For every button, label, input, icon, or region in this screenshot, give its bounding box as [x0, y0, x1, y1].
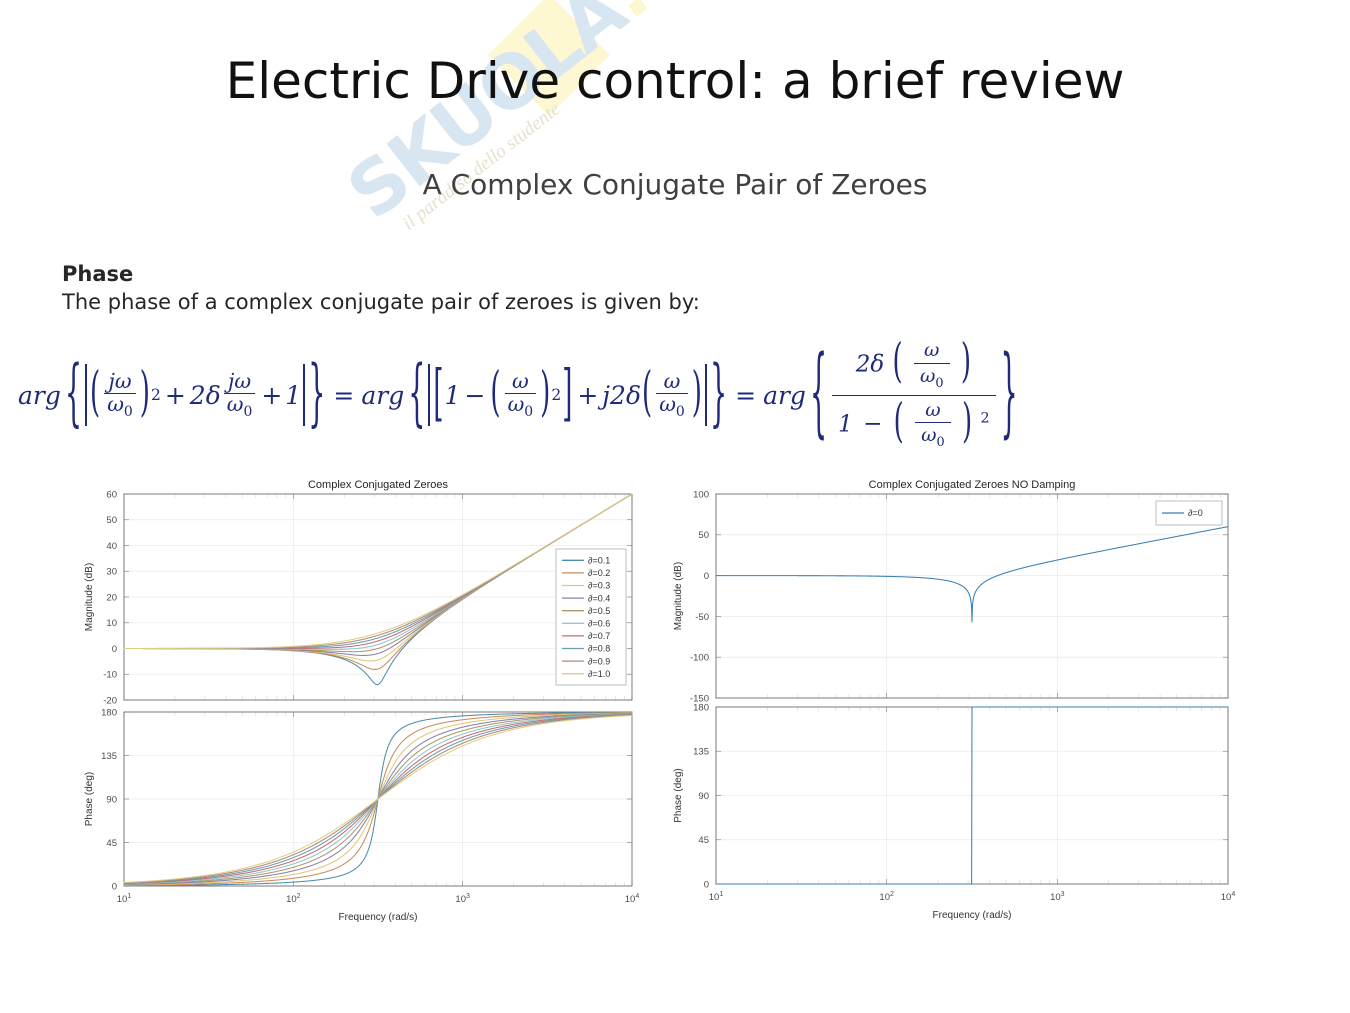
y-tick-label: 135 — [693, 747, 709, 758]
legend-label: ∂=0.7 — [588, 631, 610, 641]
page-title: Electric Drive control: a brief review — [0, 52, 1350, 110]
y-tick-label: 50 — [106, 515, 117, 526]
legend-label: ∂=0.8 — [588, 644, 610, 654]
y-tick-label: 45 — [698, 835, 709, 846]
brace-open-1: { — [65, 382, 82, 407]
coef-two-1: 2 — [190, 381, 206, 410]
arg-operator-3: arg — [763, 381, 806, 410]
j2-coef: j2 — [602, 381, 626, 410]
y-tick-label: 45 — [106, 838, 117, 849]
y-tick-label: -100 — [690, 653, 709, 664]
x-axis-label: Frequency (rad/s) — [933, 910, 1012, 921]
fraction-denominator: ω0 — [224, 393, 256, 420]
chart-title: Complex Conjugated Zeroes NO Damping — [869, 479, 1076, 491]
exponent-1: 2 — [151, 386, 161, 404]
brace-close-2: } — [710, 382, 727, 407]
brace-open-2: { — [408, 382, 425, 407]
fraction-w-w0-b: ω ω0 — [656, 371, 688, 419]
y-tick-label: 0 — [704, 571, 709, 582]
panel-magnitude: -150-100-50050100 — [690, 489, 1228, 704]
phase-fraction: 2δ ( ω ω0 ) 1 − ( ω ω0 ) 2 — [832, 336, 995, 454]
abs-bar-close-1 — [303, 364, 305, 426]
y-tick-label: 90 — [698, 791, 709, 802]
y-tick-label: -10 — [103, 670, 117, 681]
fraction-numerator: 2δ ( ω ω0 ) — [850, 336, 978, 395]
fraction-denominator: ω0 — [656, 393, 688, 420]
fraction-denominator: 1 − ( ω ω0 ) 2 — [832, 395, 995, 455]
fraction-denominator: ω0 — [915, 422, 951, 452]
delta-1: δ — [206, 381, 221, 410]
x-tick-label: 104 — [625, 893, 640, 905]
y-tick-label: 180 — [693, 702, 709, 713]
legend-label: ∂=0 — [1188, 508, 1203, 518]
paren-open-2: ( — [490, 383, 500, 407]
equation-term-2: arg { [ 1 − ( ω ω0 ) 2 ] + j2 δ ( ω ω0 )… — [361, 364, 728, 426]
x-axis-label: Frequency (rad/s) — [339, 912, 418, 923]
x-tick-label: 103 — [1050, 891, 1065, 903]
equation-term-1: arg { ( jω ω0 ) 2 + 2 δ jω ω0 + 1 } — [18, 364, 326, 426]
brace-close-1: } — [308, 382, 325, 407]
legend-label: ∂=0.1 — [588, 556, 610, 566]
paren-close-4: ) — [961, 354, 971, 375]
y-tick-label: -50 — [695, 612, 709, 623]
paren-open-1: ( — [90, 383, 100, 407]
equals-sign-2: = — [735, 381, 756, 410]
x-tick-label: 102 — [879, 891, 894, 903]
legend-label: ∂=0.6 — [588, 619, 610, 629]
fraction-numerator: ω — [919, 398, 946, 423]
chart-title: Complex Conjugated Zeroes — [308, 479, 449, 491]
fraction-w-w0-c: ω ω0 — [914, 338, 950, 393]
legend-label: ∂=0.9 — [588, 656, 610, 666]
y-tick-label: 30 — [106, 567, 117, 578]
chart-right-svg: Complex Conjugated Zeroes NO Damping-150… — [666, 474, 1240, 932]
arg-operator-2: arg — [361, 381, 404, 410]
y-tick-label: 90 — [106, 794, 117, 805]
arg-operator-1: arg — [18, 381, 61, 410]
one-2: 1 — [445, 381, 461, 410]
paren-close-1: ) — [140, 383, 150, 407]
x-tick-label: 102 — [286, 893, 301, 905]
panel-phase: 04590135180 — [101, 707, 632, 892]
y-axis-label: Magnitude (dB) — [84, 563, 95, 631]
plus-sign-3: + — [577, 381, 598, 410]
brace-close-3: } — [1001, 378, 1018, 412]
y-tick-label: 50 — [698, 530, 709, 541]
plus-sign-1: + — [165, 381, 186, 410]
panel-phase: 04590135180 — [693, 702, 1228, 890]
fraction-jw-w0-b: jω ω0 — [224, 371, 256, 419]
fraction-denominator: ω0 — [914, 363, 950, 393]
equation-term-3: arg { 2δ ( ω ω0 ) 1 − ( ω ω0 ) — [763, 336, 1019, 454]
y-tick-label: -20 — [103, 695, 117, 706]
fraction-denominator: ω0 — [505, 393, 537, 420]
y-tick-label: 0 — [704, 879, 709, 890]
exponent-3: 2 — [980, 410, 989, 426]
y-axis-label: Magnitude (dB) — [673, 562, 684, 630]
fraction-numerator: ω — [918, 338, 945, 363]
phase-equation: arg { ( jω ω0 ) 2 + 2 δ jω ω0 + 1 } = ar… — [18, 336, 1019, 454]
x-tick-label: 101 — [709, 891, 724, 903]
body-text-block: Phase The phase of a complex conjugate p… — [62, 262, 700, 314]
one-1: 1 — [285, 381, 301, 410]
fraction-w-w0-d: ω ω0 — [915, 398, 951, 453]
y-tick-label: 180 — [101, 707, 117, 718]
y-tick-label: 0 — [112, 881, 117, 892]
y-axis-label: Phase (deg) — [84, 772, 95, 826]
y-tick-label: 20 — [106, 592, 117, 603]
exponent-2: 2 — [551, 386, 561, 404]
chart-legend: ∂=0 — [1156, 501, 1222, 525]
fraction-numerator: ω — [509, 371, 532, 393]
x-tick-label: 103 — [455, 893, 470, 905]
bracket-open-2: [ — [433, 383, 443, 407]
x-tick-label: 104 — [1221, 891, 1236, 903]
abs-bar-close-2 — [705, 364, 707, 426]
chart-legend: ∂=0.1∂=0.2∂=0.3∂=0.4∂=0.5∂=0.6∂=0.7∂=0.8… — [556, 549, 626, 685]
panel-magnitude: -20-100102030405060 — [103, 489, 632, 706]
delta-2: δ — [626, 381, 641, 410]
legend-label: ∂=0.4 — [588, 593, 610, 603]
fraction-numerator: jω — [105, 371, 134, 393]
paren-close-3: ) — [692, 383, 702, 407]
chart-complex-conjugated-zeroes-no-damping: Complex Conjugated Zeroes NO Damping-150… — [666, 474, 1240, 932]
plus-sign-2: + — [261, 381, 282, 410]
legend-label: ∂=0.5 — [588, 606, 610, 616]
chart-complex-conjugated-zeroes: Complex Conjugated Zeroes-20-10010203040… — [78, 474, 644, 932]
fraction-denominator: ω0 — [104, 393, 136, 420]
abs-bar-open-2 — [428, 364, 430, 426]
chart-left-svg: Complex Conjugated Zeroes-20-10010203040… — [78, 474, 644, 932]
paren-open-4: ( — [893, 354, 903, 375]
fraction-jw-w0-a: jω ω0 — [104, 371, 136, 419]
y-tick-label: 0 — [112, 644, 117, 655]
bracket-close-2: ] — [562, 383, 572, 407]
y-tick-label: 100 — [693, 489, 709, 500]
section-heading: Phase — [62, 262, 700, 286]
x-tick-label: 101 — [117, 893, 132, 905]
brace-open-3: { — [810, 378, 827, 412]
legend-label: ∂=0.2 — [588, 568, 610, 578]
fraction-w-w0-a: ω ω0 — [505, 371, 537, 419]
paren-close-5: ) — [962, 413, 972, 434]
page-subtitle: A Complex Conjugate Pair of Zeroes — [0, 168, 1350, 201]
legend-label: ∂=1.0 — [588, 669, 610, 679]
paren-close-2: ) — [540, 383, 550, 407]
paren-open-5: ( — [894, 413, 904, 434]
equals-sign-1: = — [333, 381, 354, 410]
y-axis-label: Phase (deg) — [673, 768, 684, 822]
y-tick-label: 40 — [106, 541, 117, 552]
minus-sign-1: − — [464, 381, 485, 410]
y-tick-label: 135 — [101, 751, 117, 762]
paren-open-3: ( — [642, 383, 652, 407]
legend-label: ∂=0.3 — [588, 581, 610, 591]
fraction-numerator: ω — [661, 371, 684, 393]
section-text: The phase of a complex conjugate pair of… — [62, 290, 700, 314]
abs-bar-open-1 — [85, 364, 87, 426]
fraction-numerator: jω — [225, 371, 254, 393]
y-tick-label: 60 — [106, 489, 117, 500]
y-tick-label: 10 — [106, 618, 117, 629]
